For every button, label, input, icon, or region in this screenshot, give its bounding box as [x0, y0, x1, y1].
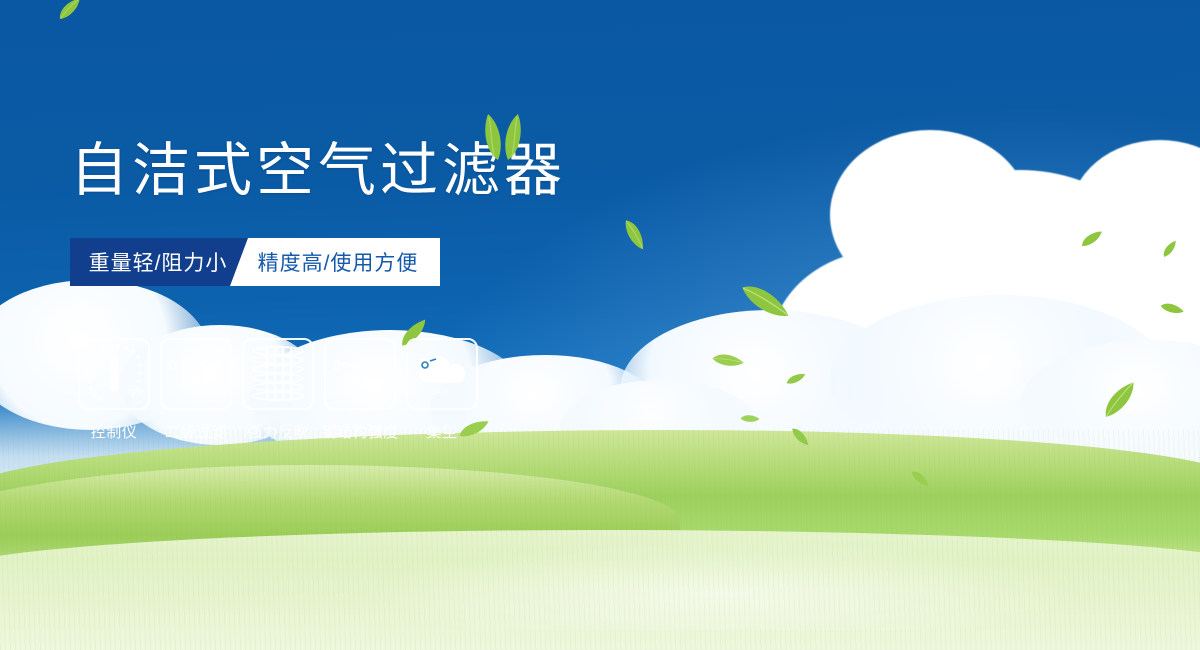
- subtitle-bar: 重量轻/阻力小 精度高/使用方便: [70, 238, 440, 286]
- air-cloud-icon: [414, 351, 470, 385]
- product-banner: 自洁式空气过滤器 重量轻/阻力小 精度高/使用方便: [0, 0, 1200, 650]
- feature-item-steel-plate[interactable]: 3～8MM 钢板 钢结构强度: [324, 338, 396, 442]
- subtitle-left-segment: 重量轻/阻力小: [70, 238, 248, 286]
- feature-list: NO OFF 控制仪 0.6～0.8 MPA 二级过滤: [78, 338, 478, 442]
- feature-icon-box: 0.6～0.8 MPA: [160, 338, 232, 410]
- title-sprout-leaves-icon: [472, 112, 534, 162]
- feature-item-pressure[interactable]: 0.6～0.8 MPA 二级过滤: [160, 338, 232, 442]
- feature-label: 集尘: [406, 421, 478, 442]
- dial-on-label: NO: [84, 373, 95, 380]
- air-label: Air: [435, 386, 450, 398]
- feature-icon-box: Air: [406, 338, 478, 410]
- feature-item-backblow[interactable]: 强力反吹: [242, 338, 314, 442]
- control-dial-icon: NO OFF: [83, 343, 145, 405]
- feature-icon-box: NO OFF: [78, 338, 150, 410]
- feature-item-dust-collection[interactable]: Air 集尘: [406, 338, 478, 442]
- pressure-text-icon: 0.6～0.8 MPA: [168, 357, 223, 392]
- grass-field: [0, 430, 1200, 650]
- steel-plate-text-icon: 3～8MM 钢板: [333, 357, 387, 392]
- feature-icon-box: 3～8MM 钢板: [324, 338, 396, 410]
- feature-icon-box: [242, 338, 314, 410]
- subtitle-right-segment: 精度高/使用方便: [230, 238, 440, 286]
- feature-label: 控制仪: [78, 421, 150, 442]
- feature-label: 钢结构强度: [310, 421, 410, 442]
- feature-label: 强力反吹: [242, 421, 314, 442]
- dial-off-label: OFF: [128, 389, 143, 396]
- feature-label: 二级过滤: [160, 421, 232, 442]
- feature-item-control-dial[interactable]: NO OFF 控制仪: [78, 338, 150, 442]
- coil-filter-icon: [252, 346, 304, 402]
